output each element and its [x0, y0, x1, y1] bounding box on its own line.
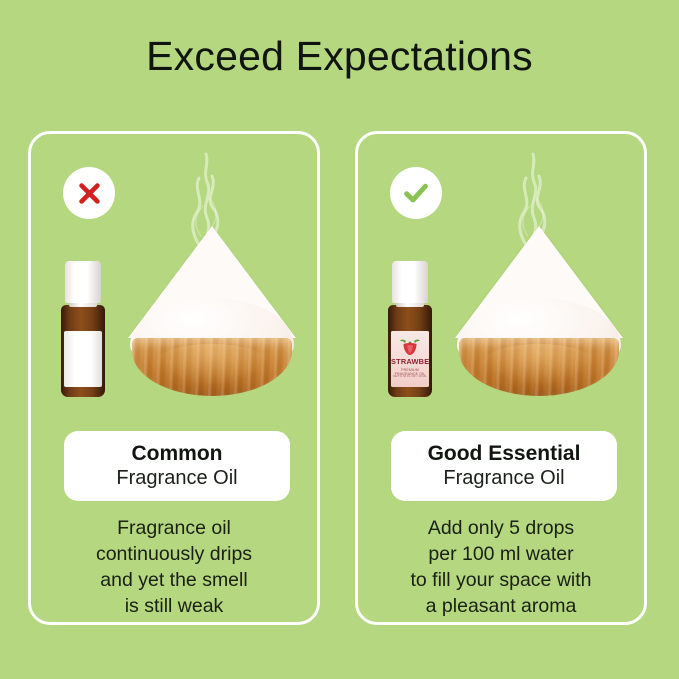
status-badge-negative	[63, 167, 115, 219]
page-title: Exceed Expectations	[0, 34, 679, 79]
nameplate-kind: Fragrance Oil	[116, 466, 237, 490]
description-line: to fill your space with	[368, 568, 634, 594]
status-badge-positive	[390, 167, 442, 219]
green-check-icon	[401, 178, 431, 208]
nameplate-common: Common Fragrance Oil	[64, 431, 290, 501]
bottle-label-strawberry: STRAWBERRY PREMIUM FRAGRANCE OIL NET 0.3…	[391, 331, 429, 387]
description-line: is still weak	[41, 594, 307, 620]
description-line: and yet the smell	[41, 568, 307, 594]
nameplate-brand: Good Essential	[428, 442, 581, 466]
red-x-icon	[76, 180, 103, 207]
nameplate-kind: Fragrance Oil	[443, 466, 564, 490]
label-title: STRAWBERRY	[391, 357, 429, 366]
description-good-essential: Add only 5 drops per 100 ml water to fil…	[368, 516, 634, 620]
comparison-card-good-essential: STRAWBERRY PREMIUM FRAGRANCE OIL NET 0.3…	[355, 131, 647, 625]
description-common: Fragrance oil continuously drips and yet…	[41, 516, 307, 620]
nameplate-good-essential: Good Essential Fragrance Oil	[391, 431, 617, 501]
diffuser-wood-base	[132, 338, 292, 396]
diffuser-wood-base	[459, 338, 619, 396]
description-line: per 100 ml water	[368, 542, 634, 568]
description-line: continuously drips	[41, 542, 307, 568]
strawberry-icon	[397, 338, 423, 356]
comparison-card-common: Common Fragrance Oil Fragrance oil conti…	[28, 131, 320, 625]
bottle-label-blank	[64, 331, 102, 387]
bottle-cap	[65, 261, 101, 303]
description-line: Fragrance oil	[41, 516, 307, 542]
diffuser-device-good-essential	[455, 226, 623, 396]
description-line: a pleasant aroma	[368, 594, 634, 620]
label-net-weight: NET 0.33 FL OZ / 10 ML	[391, 374, 429, 378]
description-line: Add only 5 drops	[368, 516, 634, 542]
oil-bottle-strawberry: STRAWBERRY PREMIUM FRAGRANCE OIL NET 0.3…	[388, 261, 432, 397]
diffuser-device-common	[128, 226, 296, 396]
oil-bottle-common	[61, 261, 105, 397]
nameplate-brand: Common	[132, 442, 223, 466]
bottle-cap	[392, 261, 428, 303]
